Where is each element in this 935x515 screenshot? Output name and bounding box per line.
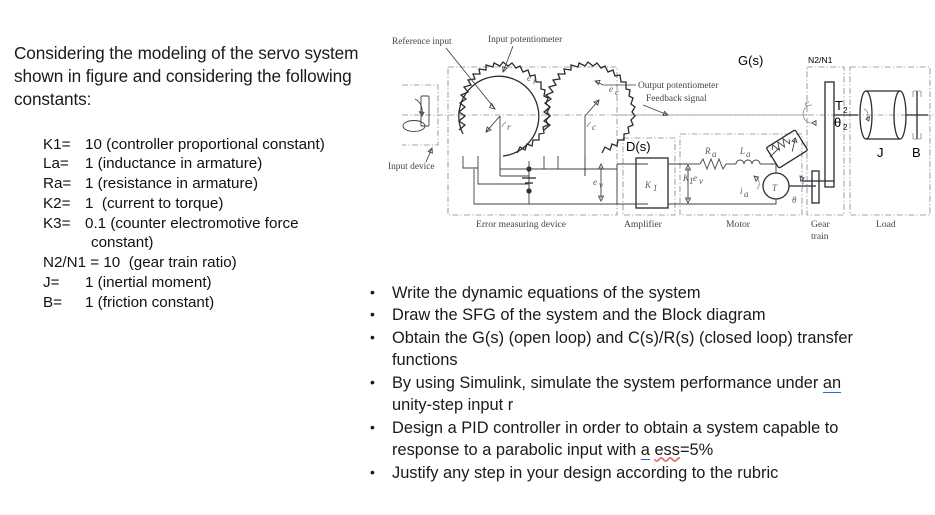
- figure-label-input-device: Input device: [388, 162, 435, 172]
- constant-key: J=: [43, 273, 85, 293]
- task-text-line: Draw the SFG of the system and the Block…: [392, 304, 930, 326]
- figure-caption-gear-train-line2: train: [811, 231, 829, 242]
- constant-key: N2/N1 = 10 (gear train ratio): [43, 253, 85, 273]
- constants-list: K1=10 (controller proportional constant)…: [14, 135, 374, 313]
- svg-text:1: 1: [653, 183, 658, 193]
- svg-text:e: e: [527, 73, 531, 83]
- figure-caption-error-measuring-device: Error measuring device: [476, 219, 566, 230]
- svg-text:r: r: [507, 122, 511, 132]
- task-text-line: Justify any step in your design accordin…: [392, 462, 930, 484]
- task-list-item: •By using Simulink, simulate the system …: [370, 372, 930, 417]
- svg-text:e: e: [609, 84, 613, 94]
- svg-text:θ: θ: [792, 195, 797, 205]
- spellcheck-spelling-mark: ess: [654, 441, 680, 459]
- task-text-line: Design a PID controller in order to obta…: [392, 417, 930, 439]
- figure-overlay-theta-subscript: 2: [843, 123, 848, 132]
- task-text: Design a PID controller in order to obta…: [392, 417, 930, 462]
- constant-value: 1 (inductance in armature): [85, 155, 262, 172]
- task-text-line: Write the dynamic equations of the syste…: [392, 282, 930, 304]
- task-text-line: By using Simulink, simulate the system p…: [392, 372, 930, 394]
- bullet-icon: •: [370, 462, 392, 483]
- svg-text:a: a: [744, 189, 749, 199]
- task-text: Write the dynamic equations of the syste…: [392, 282, 930, 304]
- figure-caption-amplifier: Amplifier: [624, 219, 663, 230]
- svg-text:v: v: [599, 180, 603, 190]
- servo-system-figure: r e r c e c e v: [388, 26, 935, 242]
- task-list-item: •Design a PID controller in order to obt…: [370, 417, 930, 462]
- figure-caption-gear-train-line1: Gear: [811, 219, 830, 230]
- svg-text:K: K: [644, 180, 652, 190]
- svg-text:i: i: [740, 186, 743, 196]
- svg-text:c: c: [592, 122, 596, 132]
- left-text-column: Considering the modeling of the servo sy…: [14, 42, 374, 312]
- figure-caption-load: Load: [876, 219, 896, 230]
- svg-text:r: r: [533, 76, 537, 86]
- task-list-item: •Obtain the G(s) (open loop) and C(s)/R(…: [370, 327, 930, 372]
- task-list-item: •Draw the SFG of the system and the Bloc…: [370, 304, 930, 326]
- constant-value-continuation: constant): [43, 233, 374, 253]
- svg-text:c: c: [615, 87, 619, 97]
- task-text-line: functions: [392, 349, 930, 371]
- bullet-icon: •: [370, 282, 392, 303]
- constant-key: K1=: [43, 135, 85, 155]
- task-text: Obtain the G(s) (open loop) and C(s)/R(s…: [392, 327, 930, 372]
- figure-label-input-potentiometer: Input potentiometer: [488, 35, 563, 45]
- task-list-item: •Write the dynamic equations of the syst…: [370, 282, 930, 304]
- svg-text:T: T: [772, 183, 778, 193]
- bullet-icon: •: [370, 327, 392, 348]
- spellcheck-grammar-mark: a: [641, 441, 650, 460]
- constant-row: K2=1 (current to torque): [43, 194, 374, 214]
- figure-label-output-potentiometer: Output potentiometer: [638, 81, 719, 91]
- task-text: Draw the SFG of the system and the Block…: [392, 304, 930, 326]
- constant-key: La=: [43, 154, 85, 174]
- figure-overlay-torque-subscript: 2: [843, 106, 848, 115]
- task-text: By using Simulink, simulate the system p…: [392, 372, 930, 417]
- intro-paragraph: Considering the modeling of the servo sy…: [14, 42, 374, 111]
- task-bullet-list: •Write the dynamic equations of the syst…: [370, 282, 930, 484]
- figure-overlay-inertia: J: [877, 145, 884, 160]
- figure-overlay-theta: θ: [834, 115, 841, 130]
- task-text: Justify any step in your design accordin…: [392, 462, 930, 484]
- constant-key: B=: [43, 293, 85, 313]
- figure-label-feedback-signal: Feedback signal: [646, 94, 707, 104]
- svg-text:L: L: [739, 146, 745, 156]
- figure-overlay-g-of-s: G(s): [738, 53, 763, 68]
- figure-overlay-d-of-s: D(s): [626, 139, 651, 154]
- spellcheck-grammar-mark: an: [823, 374, 841, 393]
- constant-value: 1 (resistance in armature): [85, 175, 258, 192]
- constant-value: 10 (controller proportional constant): [85, 136, 325, 153]
- constant-key: Ra=: [43, 174, 85, 194]
- task-text-line: unity-step input r: [392, 394, 930, 416]
- task-text-line: response to a parabolic input with a ess…: [392, 439, 930, 461]
- constant-value: 1 (current to torque): [85, 195, 223, 212]
- constant-row: K3=0.1 (counter electromotive force: [43, 214, 374, 234]
- constant-row: B=1 (friction constant): [43, 293, 374, 313]
- figure-caption-motor: Motor: [726, 219, 751, 230]
- constant-row: Ra=1 (resistance in armature): [43, 174, 374, 194]
- task-list-item: •Justify any step in your design accordi…: [370, 462, 930, 484]
- svg-text:a: a: [712, 149, 717, 159]
- constant-row: La=1 (inductance in armature): [43, 154, 374, 174]
- bullet-icon: •: [370, 372, 392, 393]
- bullet-icon: •: [370, 417, 392, 438]
- constant-row: J=1 (inertial moment): [43, 273, 374, 293]
- constant-value: 0.1 (counter electromotive force: [85, 215, 299, 232]
- figure-label-reference-input: Reference input: [392, 36, 452, 47]
- constant-value: 1 (inertial moment): [85, 274, 212, 291]
- bullet-icon: •: [370, 304, 392, 325]
- constant-key: K2=: [43, 194, 85, 214]
- svg-text:a: a: [746, 149, 751, 159]
- task-text-line: Obtain the G(s) (open loop) and C(s)/R(s…: [392, 327, 930, 349]
- constant-row: N2/N1 = 10 (gear train ratio): [43, 253, 374, 273]
- svg-text:v: v: [699, 176, 703, 186]
- svg-text:R: R: [704, 146, 711, 156]
- constant-value: 1 (friction constant): [85, 294, 214, 311]
- svg-text:e: e: [693, 173, 697, 183]
- constant-key: K3=: [43, 214, 85, 234]
- figure-overlay-friction: B: [912, 145, 921, 160]
- figure-overlay-gear-ratio: N2/N1: [808, 55, 833, 65]
- constant-row: K1=10 (controller proportional constant): [43, 135, 374, 155]
- svg-text:c: c: [805, 98, 809, 108]
- figure-overlay-torque: T: [835, 98, 843, 113]
- svg-text:e: e: [593, 177, 597, 187]
